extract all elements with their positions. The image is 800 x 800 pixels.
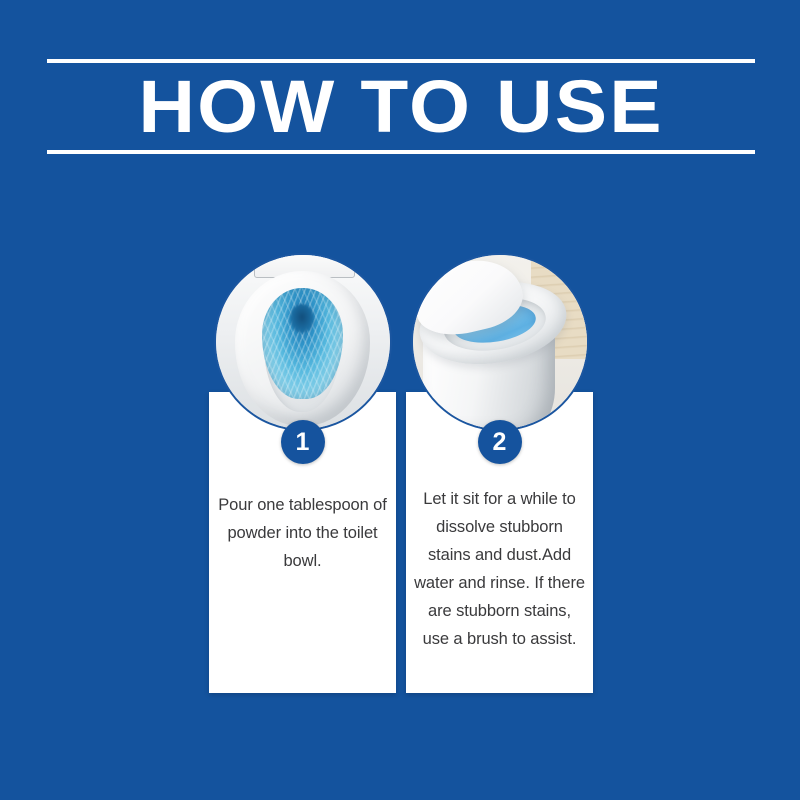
step-number-badge-2: 2 [478, 420, 522, 464]
drain-hole-shape [290, 304, 314, 333]
step-2-photo [411, 253, 589, 431]
title-rule-bottom [47, 150, 755, 154]
how-to-use-poster: HOW TO USE 1 Pour one table [0, 0, 800, 800]
title-rule-top [47, 59, 755, 63]
toilet-side-view-with-blue-water-photo [413, 255, 587, 429]
steps-container: 1 Pour one tablespoon of powder into the… [209, 253, 593, 693]
step-number-badge-1: 1 [281, 420, 325, 464]
step-card-2: 2 Let it sit for a while to dissolve stu… [406, 253, 593, 693]
step-1-photo [214, 253, 392, 431]
poster-header: HOW TO USE [47, 55, 755, 157]
step-caption-1: Pour one tablespoon of powder into the t… [217, 491, 388, 575]
toilet-bowl-top-view-with-blue-cleaner-photo [216, 255, 390, 429]
blue-cleaner-water-shape [262, 288, 342, 399]
step-caption-2: Let it sit for a while to dissolve stubb… [414, 485, 585, 653]
step-card-1: 1 Pour one tablespoon of powder into the… [209, 253, 396, 693]
page-title: HOW TO USE [26, 67, 776, 147]
